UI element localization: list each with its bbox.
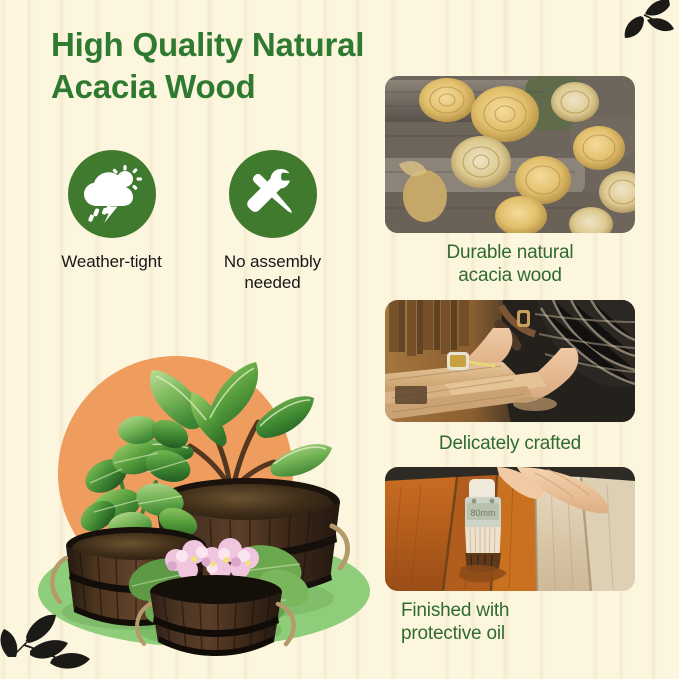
photo-card-caption-durable-acacia: Durable natural acacia wood	[385, 242, 635, 288]
feature-weather-tight: Weather-tight	[44, 150, 179, 293]
feature-photo-card-list: Durable natural acacia wood	[385, 76, 635, 658]
feature-label-line-1: No assembly	[224, 252, 321, 271]
brush-applying-protective-oil-to-decking-photo: 80mm	[385, 467, 635, 591]
feature-list: Weather-tight	[44, 150, 364, 293]
product-infographic: High Quality Natural Acacia Wood	[0, 0, 679, 679]
feature-label-weather-tight: Weather-tight	[61, 252, 161, 273]
feature-label-line-2: needed	[244, 273, 300, 292]
caption-line-1: Finished with	[401, 600, 509, 621]
feature-badge-weather-tight	[68, 150, 156, 238]
leaf-branch-decor-top-right	[597, 0, 677, 66]
caption-line-1: Delicately crafted	[439, 433, 581, 454]
feature-no-assembly: No assembly needed	[205, 150, 340, 293]
feature-badge-no-assembly	[229, 150, 317, 238]
photo-card-durable-acacia: Durable natural acacia wood	[385, 76, 635, 288]
feature-label-line-1: Weather-tight	[61, 252, 161, 271]
caption-line-2: protective oil	[401, 623, 505, 644]
photo-card-delicately-crafted: Delicately crafted	[385, 300, 635, 456]
caption-line-2: acacia wood	[458, 265, 561, 286]
hero-product-image	[20, 330, 365, 660]
photo-card-caption-protective-oil: Finished with protective oil	[385, 600, 635, 646]
wrench-screwdriver-crossed-icon	[244, 165, 302, 223]
craftsman-measuring-wood-frame-photo	[385, 300, 635, 422]
photo-card-protective-oil: 80mm	[385, 467, 635, 646]
photo-card-caption-delicately-crafted: Delicately crafted	[385, 433, 635, 456]
page-title-line-1: High Quality Natural	[51, 24, 371, 66]
weather-cloud-sun-lightning-rain-icon	[81, 165, 143, 223]
stacked-cut-acacia-logs-photo	[385, 76, 635, 233]
page-title-line-2: Acacia Wood	[51, 66, 371, 108]
caption-line-1: Durable natural	[447, 242, 574, 263]
hero-planters-illustration	[20, 330, 365, 660]
page-title: High Quality Natural Acacia Wood	[51, 24, 371, 107]
brush-size-label: 80mm	[470, 508, 495, 518]
feature-label-no-assembly: No assembly needed	[224, 252, 321, 293]
